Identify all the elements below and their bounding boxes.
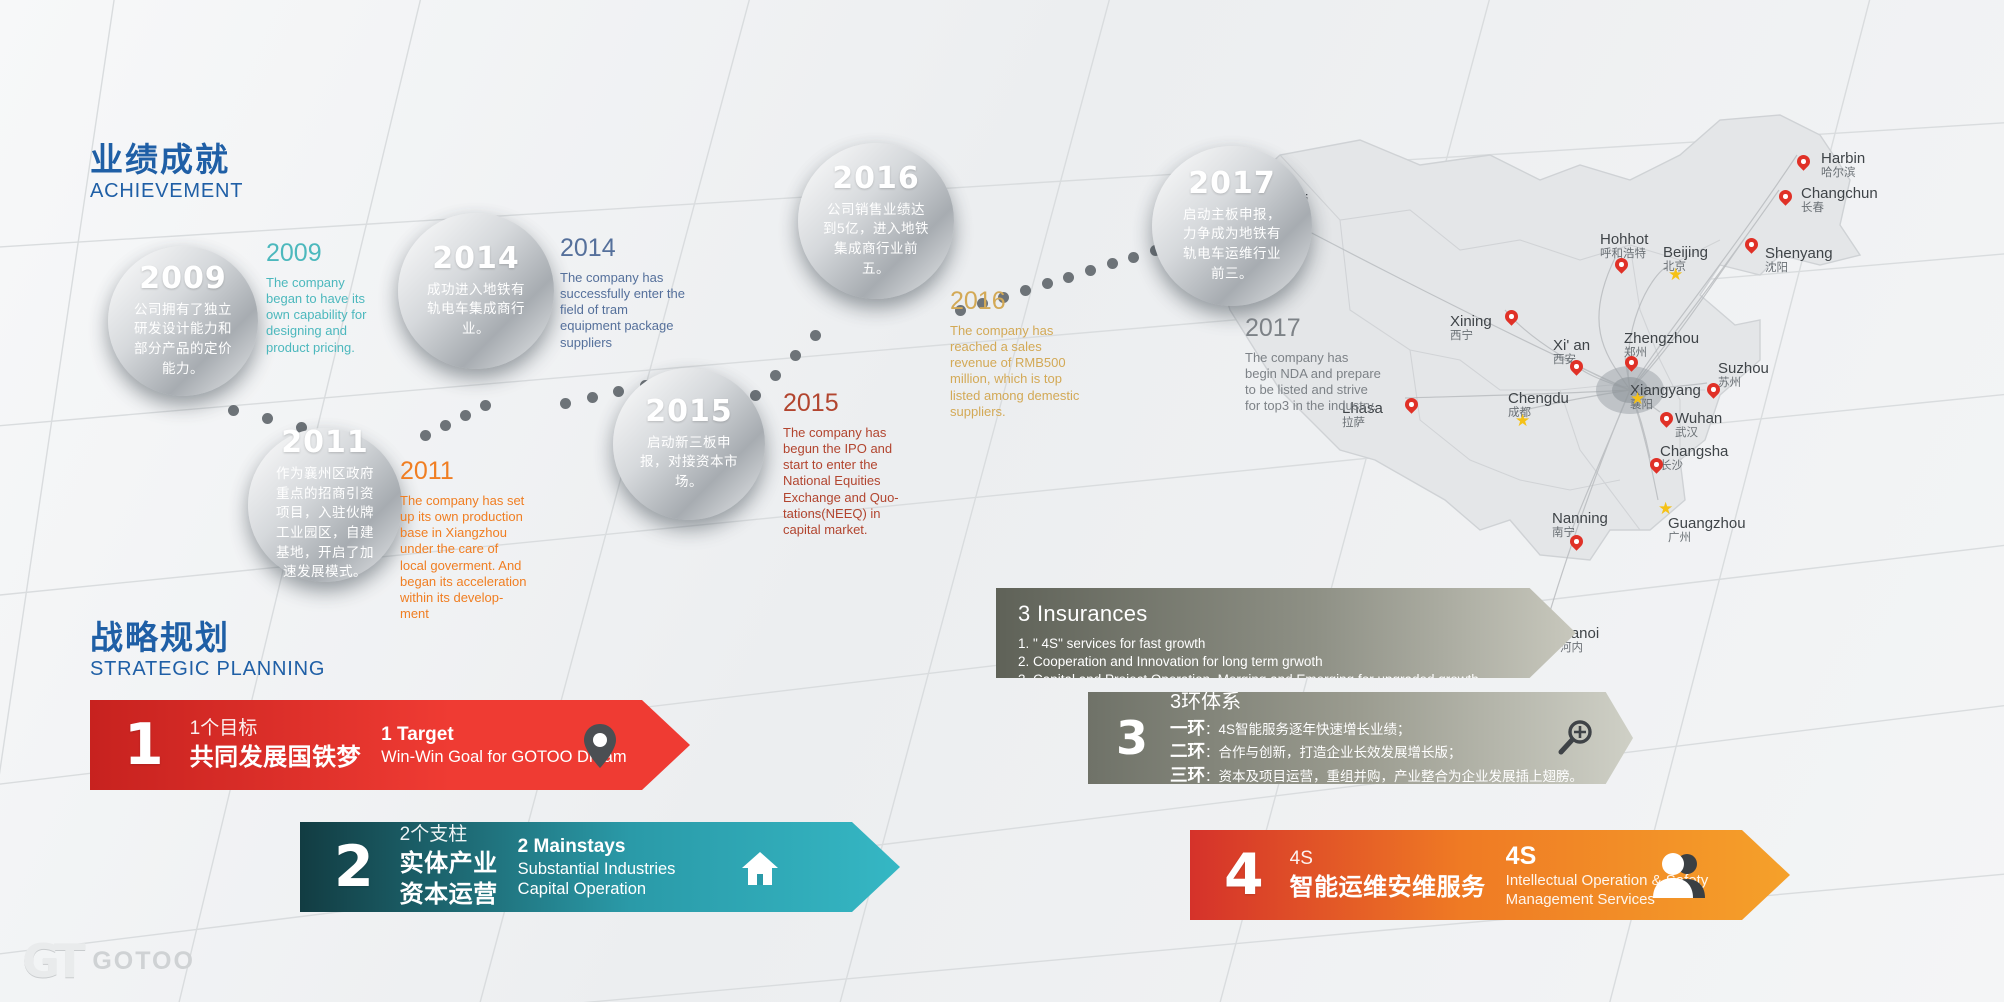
logo-mark: GT: [22, 934, 80, 988]
connector-dot: [228, 405, 239, 416]
achievement-title-en: ACHIEVEMENT: [90, 179, 243, 203]
timeline-year-label-2009: 2009: [266, 240, 374, 268]
connector-dot: [613, 386, 624, 397]
home-icon: [740, 848, 780, 893]
city-label-en: Guangzhou: [1668, 515, 1746, 532]
timeline-year-label-2011: 2011: [400, 458, 528, 486]
timeline-circle-2014: 2014成功进入地铁有轨电车集成商行业。: [400, 215, 552, 367]
banner-2-cn-big: 实体产业 资本运营: [400, 848, 498, 910]
map-city-suzhou: Suzhou苏州: [1718, 360, 1769, 390]
connector-dot: [1107, 258, 1118, 269]
timeline-circle-2009: 2009公司拥有了独立研发设计能力和部分产品的定价能力。: [110, 248, 256, 394]
connector-dot: [560, 398, 571, 409]
map-star-icon: ★: [1668, 266, 1683, 283]
circle-desc-cn-2011: 作为襄州区政府重点的招商引资项目，入驻伙牌工业园区，自建基地，开启了加速发展模式…: [257, 464, 393, 581]
banner-1-target: 1 1个目标 共同发展国铁梦 1 Target Win-Win Goal for…: [90, 700, 690, 790]
banner-1-cn-big: 共同发展国铁梦: [190, 742, 362, 773]
map-pin-icon: [1707, 383, 1720, 401]
city-label-en: Shenyang: [1765, 245, 1833, 262]
map-city-shenyang: Shenyang沈阳: [1765, 245, 1833, 275]
city-label-en: Suzhou: [1718, 360, 1769, 377]
strategic-title-cn: 战略规划: [90, 620, 325, 657]
connector-dot: [1128, 252, 1139, 263]
banner-2-cn-small: 2个支柱: [400, 823, 498, 848]
achievement-title-cn: 业绩成就: [90, 142, 243, 179]
timeline-desc-2014: The company has successfully enter the f…: [560, 270, 688, 351]
connector-dot: [790, 350, 801, 361]
banner-2-number: 2: [334, 839, 374, 896]
circle-year-2017: 2017: [1188, 169, 1276, 199]
ring-system-line-3: 三环：资本及项目运营，重组并购，产业整合为企业发展插上翅膀。: [1170, 764, 1583, 787]
city-label-en: Changsha: [1660, 443, 1728, 460]
connector-dot: [480, 400, 491, 411]
timeline-circle-2016: 2016公司销售业绩达到5亿，进入地铁集成商行业前五。: [800, 145, 952, 297]
city-label-cn: 哈尔滨: [1821, 167, 1865, 180]
city-label-cn: 西宁: [1450, 330, 1492, 343]
banner-2-en-big: Substantial Industries Capital Operation: [518, 859, 718, 899]
timeline-year-label-2017: 2017: [1245, 315, 1381, 343]
timeline-year-label-2016: 2016: [950, 288, 1080, 316]
insurances-line-1: 1. " 4S" services for fast growth: [1018, 635, 1556, 653]
timeline-desc-2017: The company has begin NDA and prepare to…: [1245, 350, 1381, 415]
timeline-circle-2015: 2015启动新三板申报，对接资本市场。: [615, 370, 763, 518]
ring-key-2: 二环: [1170, 741, 1205, 761]
map-city-guangzhou: Guangzhou广州: [1668, 515, 1746, 545]
connector-dot: [810, 330, 821, 341]
map-city-wuhan: Wuhan武汉: [1675, 410, 1722, 440]
ring-key-3: 三环: [1170, 765, 1205, 785]
banner-4-cn-big: 智能运维安维服务: [1290, 872, 1486, 903]
timeline-desc-2011: The company has set up its own productio…: [400, 493, 528, 623]
city-label-cn: 沈阳: [1765, 262, 1833, 275]
city-label-en: Changchun: [1801, 185, 1878, 202]
map-pin-icon: [1505, 310, 1518, 328]
circle-desc-cn-2009: 公司拥有了独立研发设计能力和部分产品的定价能力。: [117, 300, 249, 378]
city-label-en: Beijing: [1663, 244, 1708, 261]
city-label-cn: 长沙: [1660, 460, 1728, 473]
connector-dot: [420, 430, 431, 441]
insurances-line-2: 2. Cooperation and Innovation for long t…: [1018, 653, 1556, 671]
city-label-en: Hohhot: [1600, 231, 1648, 248]
magnifier-plus-icon: [1553, 718, 1595, 765]
map-pin-icon: [1745, 238, 1758, 256]
achievement-heading: 业绩成就 ACHIEVEMENT: [90, 142, 243, 203]
ring-system-line-2: 二环：合作与创新，打造企业长效发展增长版；: [1170, 740, 1583, 763]
people-icon: [1653, 852, 1705, 903]
banner-1-number: 1: [124, 717, 164, 774]
map-city-harbin: Harbin哈尔滨: [1821, 150, 1865, 180]
ring-system-banner: 3 3环体系 一环：4S智能服务逐年快速增长业绩； 二环：合作与创新，打造企业长…: [1088, 692, 1633, 784]
city-label-en: Harbin: [1821, 150, 1865, 167]
strategic-heading: 战略规划 STRATEGIC PLANNING: [90, 620, 325, 681]
timeline-desc-2009: The company began to have its own capabi…: [266, 275, 374, 356]
map-city-hohhot: Hohhot呼和浩特: [1600, 231, 1648, 261]
timeline-text-2015: 2015The company has begun the IPO and st…: [783, 390, 911, 538]
banner-4-cn-small: 4S: [1290, 847, 1486, 872]
map-pin-icon: [1625, 356, 1638, 374]
circle-year-2014: 2014: [432, 244, 520, 274]
map-pin-icon: [1650, 458, 1663, 476]
map-pin-icon: [1615, 258, 1628, 276]
connector-dot: [1063, 272, 1074, 283]
map-pin-icon: [1779, 190, 1792, 208]
strategic-title-en: STRATEGIC PLANNING: [90, 657, 325, 681]
connector-dot: [262, 413, 273, 424]
circle-year-2009: 2009: [139, 264, 227, 294]
connector-dot: [587, 392, 598, 403]
connector-dot: [750, 390, 761, 401]
banner-2-en-small: 2 Mainstays: [518, 835, 718, 859]
circle-desc-cn-2014: 成功进入地铁有轨电车集成商行业。: [407, 280, 545, 339]
banner-4-services: 4 4S 智能运维安维服务 4S Intellectual Operation …: [1190, 830, 1790, 920]
banner-4-number: 4: [1224, 847, 1264, 904]
map-pin-icon: [1570, 535, 1583, 553]
banner-2-mainstays: 2 2个支柱 实体产业 资本运营 2 Mainstays Substantial…: [300, 822, 900, 912]
timeline-year-label-2014: 2014: [560, 235, 688, 263]
city-label-en: Wuhan: [1675, 410, 1722, 427]
map-pin-icon: [1797, 155, 1810, 173]
location-pin-icon: [582, 722, 618, 775]
insurances-banner: 3 Insurances 1. " 4S" services for fast …: [996, 588, 1576, 678]
infographic-canvas: Harbin哈尔滨Changchun长春Shenyang沈阳Beijing北京★…: [0, 0, 2004, 1002]
ring-text-1: ：4S智能服务逐年快速增长业绩；: [1205, 722, 1411, 737]
ring-system-line-1: 一环：4S智能服务逐年快速增长业绩；: [1170, 717, 1583, 740]
timeline-desc-2015: The company has begun the IPO and start …: [783, 425, 911, 539]
timeline-circle-2017: 2017启动主板申报，力争成为地铁有轨电车运维行业前三。: [1154, 148, 1310, 304]
map-star-icon: ★: [1515, 412, 1530, 429]
circle-desc-cn-2017: 启动主板申报，力争成为地铁有轨电车运维行业前三。: [1161, 205, 1303, 283]
ring-text-2: ：合作与创新，打造企业长效发展增长版；: [1205, 745, 1462, 760]
map-pin-icon: [1570, 360, 1583, 378]
city-label-en: Xi' an: [1553, 337, 1590, 354]
map-city-xining: Xining西宁: [1450, 313, 1492, 343]
map-city-changchun: Changchun长春: [1801, 185, 1878, 215]
ring-key-1: 一环: [1170, 718, 1205, 738]
map-star-icon: ★: [1630, 390, 1645, 407]
circle-desc-cn-2015: 启动新三板申报，对接资本市场。: [622, 433, 756, 492]
insurances-title: 3 Insurances: [1018, 601, 1556, 627]
city-label-en: Chengdu: [1508, 390, 1569, 407]
city-label-cn: 广州: [1668, 532, 1746, 545]
city-label-cn: 拉萨: [1342, 417, 1383, 430]
connector-dot: [440, 420, 451, 431]
ring-system-number: 3: [1116, 715, 1148, 761]
connector-dot: [770, 370, 781, 381]
timeline-year-label-2015: 2015: [783, 390, 911, 418]
connector-dot: [1085, 265, 1096, 276]
city-label-cn: 河内: [1560, 642, 1599, 655]
timeline-circle-2011: 2011作为襄州区政府重点的招商引资项目，入驻伙牌工业园区，自建基地，开启了加速…: [250, 430, 400, 580]
city-label-en: Xining: [1450, 313, 1492, 330]
circle-year-2011: 2011: [281, 428, 369, 458]
city-label-cn: 武汉: [1675, 427, 1722, 440]
connector-dot: [460, 410, 471, 421]
gotoo-logo: GT GOTOO: [22, 934, 195, 988]
ring-system-title: 3环体系: [1170, 689, 1583, 716]
city-label-cn: 长春: [1801, 202, 1878, 215]
map-star-icon: ★: [1658, 500, 1673, 517]
timeline-text-2009: 2009The company began to have its own ca…: [266, 240, 374, 356]
circle-year-2016: 2016: [832, 164, 920, 194]
timeline-desc-2016: The company has reached a sales revenue …: [950, 323, 1080, 421]
timeline-text-2014: 2014The company has successfully enter t…: [560, 235, 688, 351]
map-pin-icon: [1405, 398, 1418, 416]
city-label-en: Zhengzhou: [1624, 330, 1699, 347]
logo-wordmark: GOTOO: [92, 947, 195, 976]
circle-desc-cn-2016: 公司销售业绩达到5亿，进入地铁集成商行业前五。: [807, 200, 945, 278]
banner-1-cn-small: 1个目标: [190, 717, 362, 742]
city-label-cn: 苏州: [1718, 377, 1769, 390]
circle-year-2015: 2015: [645, 397, 733, 427]
ring-text-3: ：资本及项目运营，重组并购，产业整合为企业发展插上翅膀。: [1205, 769, 1583, 784]
map-city-changsha: Changsha长沙: [1660, 443, 1728, 473]
city-label-en: Nanning: [1552, 510, 1608, 527]
timeline-text-2017: 2017The company has begin NDA and prepar…: [1245, 315, 1381, 415]
timeline-text-2011: 2011The company has set up its own produ…: [400, 458, 528, 623]
map-pin-icon: [1660, 412, 1673, 430]
timeline-text-2016: 2016The company has reached a sales reve…: [950, 288, 1080, 420]
